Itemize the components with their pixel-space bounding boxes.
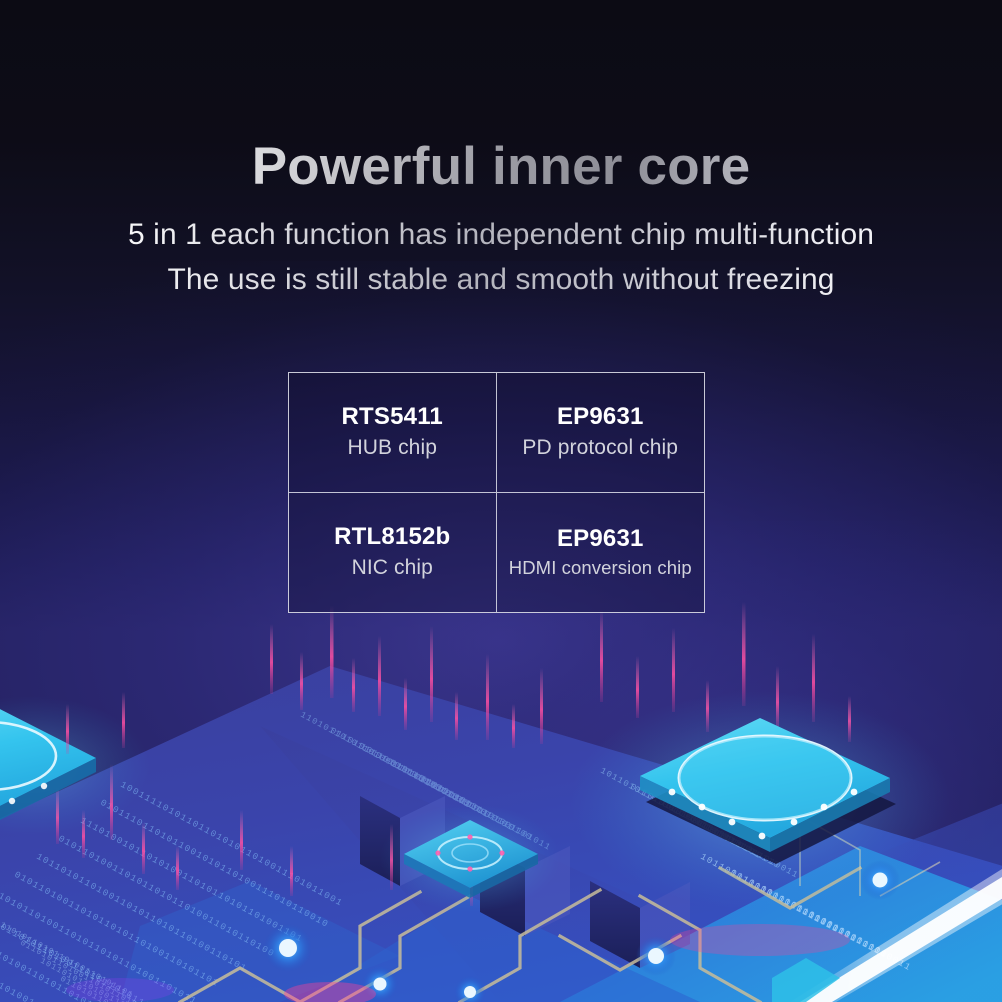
spec-model-label: EP9631 (557, 404, 644, 430)
chip-spec-table: RTS5411 HUB chip EP9631 PD protocol chip… (288, 372, 705, 613)
page-title: Powerful inner core (0, 138, 1002, 195)
spec-description-label: NIC chip (352, 556, 433, 580)
spec-description-label: PD protocol chip (522, 436, 678, 460)
center-chip (380, 804, 560, 912)
spec-cell-hdmi: EP9631 HDMI conversion chip (497, 493, 705, 613)
spec-model-label: EP9631 (557, 526, 644, 552)
subtitle-line-2: The use is still stable and smooth witho… (0, 262, 1002, 298)
spec-cell-nic: RTL8152b NIC chip (289, 493, 497, 613)
circuit-board-artwork: 1001111010110110101011010011101011001 01… (0, 596, 1002, 1002)
product-feature-poster: 1001111010110110101011010011101011001 01… (0, 0, 1002, 1002)
spec-description-label: HDMI conversion chip (509, 557, 692, 578)
spec-cell-pd-protocol: EP9631 PD protocol chip (497, 373, 705, 493)
spec-model-label: RTL8152b (334, 524, 450, 550)
subtitle-line-1: 5 in 1 each function has independent chi… (0, 217, 1002, 253)
spec-cell-hub: RTS5411 HUB chip (289, 373, 497, 493)
spec-description-label: HUB chip (348, 436, 438, 460)
spec-model-label: RTS5411 (342, 404, 443, 430)
